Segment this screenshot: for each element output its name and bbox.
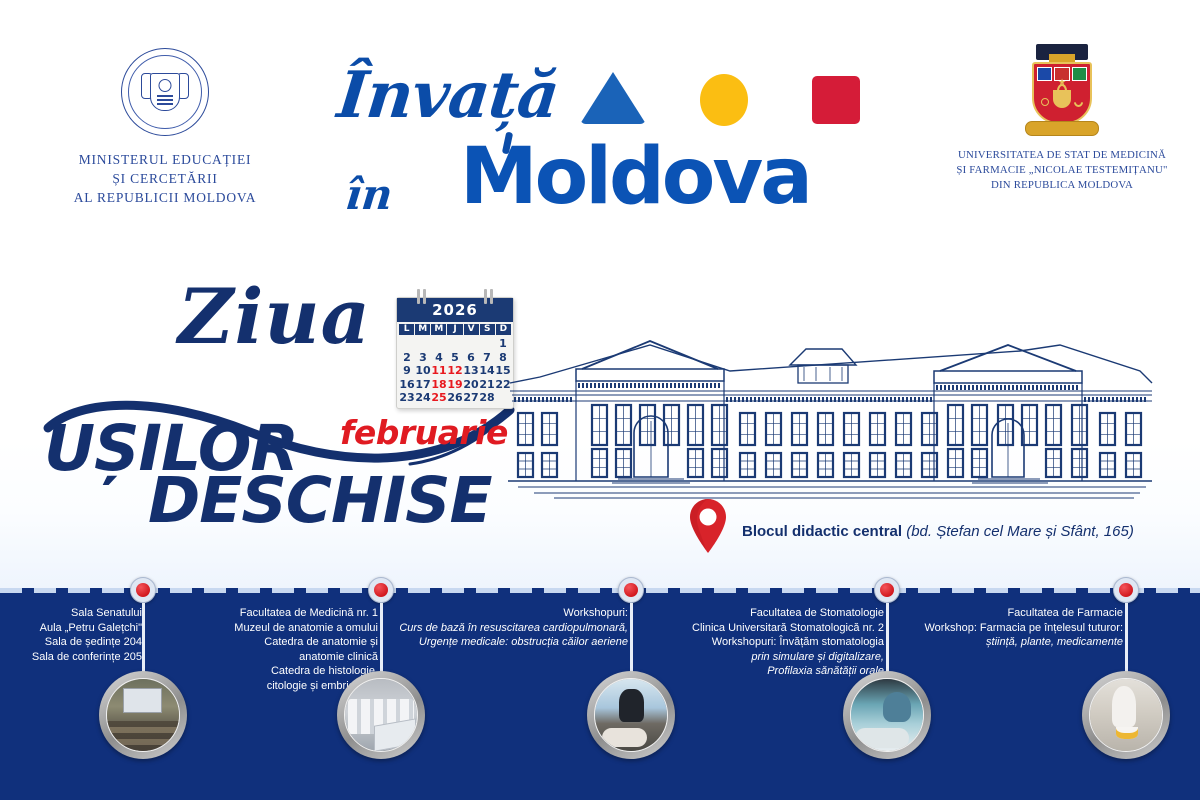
- calendar-day-5: 5: [447, 351, 463, 365]
- location-address: (bd. Ștefan cel Mare și Sfânt, 165): [906, 523, 1134, 540]
- event-month-label: februarie: [340, 413, 508, 452]
- poster-header: MINISTERUL EDUCAȚIEI ȘI CERCETĂRII AL RE…: [0, 0, 1200, 235]
- pharmacy-lab-photo[interactable]: [1082, 671, 1170, 759]
- timeline-band: Sala SenatuluiAula „Petru Galețchi"Sala …: [0, 588, 1200, 800]
- timeline-item-5[interactable]: Facultatea de FarmacieWorkshop: Farmacia…: [0, 588, 1200, 800]
- timeline-label-line: știință, plante, medicamente: [902, 635, 1123, 650]
- calendar-day-6: 6: [463, 351, 479, 365]
- calendar-day-empty: [399, 337, 415, 351]
- calendar-day-4: 4: [431, 351, 447, 365]
- calendar-day-10: 10: [415, 364, 431, 378]
- brand-word-in: în: [343, 170, 395, 219]
- location-name: Blocul didactic central: [742, 523, 902, 540]
- university-line-1: UNIVERSITATEA DE STAT DE MEDICINĂ: [942, 148, 1182, 163]
- calendar-widget: 2026 LMMJVSD 123456789101112131415161718…: [396, 297, 514, 409]
- calendar-day-empty: [463, 337, 479, 351]
- calendar-weekday-0: L: [399, 324, 414, 335]
- triangle-shape-icon: [580, 72, 646, 124]
- calendar-day-20: 20: [463, 378, 479, 392]
- timeline-pin-icon: [1113, 577, 1139, 603]
- calendar-day-16: 16: [399, 378, 415, 392]
- calendar-day-empty: [431, 337, 447, 351]
- usmf-central-building-line-art: [500, 305, 1160, 505]
- calendar-day-grid: 1234567891011121314151617181920212223242…: [397, 336, 513, 405]
- calendar-weekday-row: LMMJVSD: [397, 322, 513, 336]
- calendar-day-24: 24: [415, 391, 431, 405]
- calendar-day-28: 28: [479, 391, 495, 405]
- map-pin-icon: [688, 498, 728, 554]
- calendar-day-27: 27: [463, 391, 479, 405]
- calendar-day-empty: [415, 337, 431, 351]
- calendar-day-23: 23: [399, 391, 415, 405]
- moldova-state-seal-icon: [121, 48, 209, 136]
- brand-word-moldova: Moldova: [460, 138, 810, 216]
- calendar-day-9: 9: [399, 364, 415, 378]
- usmf-crest-icon: ★: [1023, 44, 1101, 138]
- calendar-weekday-3: J: [447, 324, 462, 335]
- university-line-2: ȘI FARMACIE „NICOLAE TESTEMIȚANU": [942, 163, 1182, 178]
- calendar-day-21: 21: [479, 378, 495, 392]
- calendar-day-19: 19: [447, 378, 463, 392]
- calendar-day-3: 3: [415, 351, 431, 365]
- ministry-line-2: ȘI CERCETĂRII: [30, 169, 300, 188]
- ministry-line-1: MINISTERUL EDUCAȚIEI: [30, 150, 300, 169]
- poster-canvas: MINISTERUL EDUCAȚIEI ȘI CERCETĂRII AL RE…: [0, 0, 1200, 800]
- university-line-3: DIN REPUBLICA MOLDOVA: [942, 178, 1182, 193]
- calendar-day-14: 14: [479, 364, 495, 378]
- calendar-day-2: 2: [399, 351, 415, 365]
- location-row: Blocul didactic central (bd. Ștefan cel …: [688, 498, 1134, 554]
- timeline-label-line: Facultatea de Farmacie: [902, 606, 1123, 621]
- brand-lockup: Învață în Moldova: [320, 40, 890, 220]
- university-logo: ★ UNIVERSITATEA DE STAT DE MEDICINĂ ȘI F…: [942, 44, 1182, 193]
- calendar-weekday-5: S: [480, 324, 495, 335]
- calendar-weekday-2: M: [431, 324, 446, 335]
- university-logo-text: UNIVERSITATEA DE STAT DE MEDICINĂ ȘI FAR…: [942, 148, 1182, 193]
- timeline-stem: [1125, 603, 1128, 675]
- calendar-day-12: 12: [447, 364, 463, 378]
- calendar-day-empty: [479, 337, 495, 351]
- brand-word-invata: Învață: [334, 58, 562, 133]
- calendar-day-empty: [447, 337, 463, 351]
- calendar-day-18: 18: [431, 378, 447, 392]
- calendar-day-7: 7: [479, 351, 495, 365]
- calendar-day-26: 26: [447, 391, 463, 405]
- calendar-day-13: 13: [463, 364, 479, 378]
- timeline-label-line: Workshop: Farmacia pe înțelesul tuturor:: [902, 621, 1123, 636]
- ministry-logo-text: MINISTERUL EDUCAȚIEI ȘI CERCETĂRII AL RE…: [30, 150, 300, 207]
- calendar-day-25: 25: [431, 391, 447, 405]
- event-title-line-2: DESCHISE: [148, 464, 492, 537]
- ministry-line-3: AL REPUBLICII MOLDOVA: [30, 188, 300, 207]
- circle-shape-icon: [700, 74, 748, 126]
- ministry-logo: MINISTERUL EDUCAȚIEI ȘI CERCETĂRII AL RE…: [30, 48, 300, 207]
- calendar-weekday-4: V: [464, 324, 479, 335]
- event-title-script: Ziua: [178, 272, 371, 361]
- location-text: Blocul didactic central (bd. Ștefan cel …: [742, 513, 1134, 540]
- timeline-label-5: Facultatea de FarmacieWorkshop: Farmacia…: [902, 606, 1123, 650]
- calendar-day-17: 17: [415, 378, 431, 392]
- calendar-rings-icon: [397, 289, 513, 303]
- calendar-day-11: 11: [431, 364, 447, 378]
- calendar-weekday-1: M: [415, 324, 430, 335]
- square-shape-icon: [812, 76, 860, 124]
